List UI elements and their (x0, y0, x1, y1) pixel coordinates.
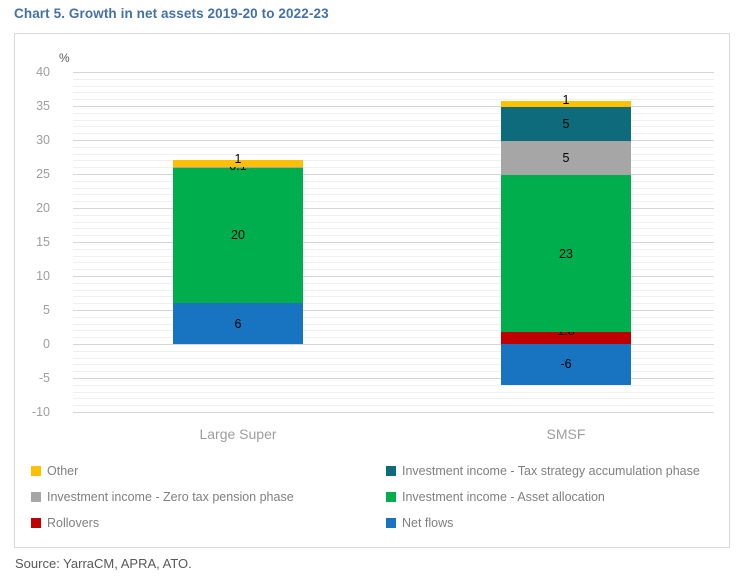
legend-item-rollovers[interactable]: Rollovers (31, 510, 294, 536)
chart-legend: Other Investment income - Zero tax pensi… (15, 458, 729, 548)
y-axis-tick-label: 5 (10, 303, 50, 317)
bar-segment[interactable] (173, 167, 303, 168)
bar-segment[interactable] (501, 101, 631, 108)
bar-large-super[interactable]: 6200.11 (173, 72, 303, 412)
legend-column-right: Investment income - Tax strategy accumul… (386, 458, 700, 536)
source-note: Source: YarraCM, APRA, ATO. (15, 556, 192, 571)
legend-item-zero-tax-pension-phase[interactable]: Investment income - Zero tax pension pha… (31, 484, 294, 510)
page-title: Chart 5. Growth in net assets 2019-20 to… (14, 6, 329, 21)
x-axis-category-large-super: Large Super (138, 426, 338, 442)
plot-wrapper: % -10-505101520253035406200.11-61.823551… (15, 34, 729, 458)
bar-segment[interactable] (501, 175, 631, 331)
bar-segment[interactable] (173, 167, 303, 303)
legend-label-tax-strategy-accumulation-phase: Investment income - Tax strategy accumul… (402, 464, 700, 478)
bar-segment[interactable] (501, 107, 631, 141)
legend-label-rollovers: Rollovers (47, 516, 99, 530)
y-axis-tick-label: 35 (10, 99, 50, 113)
chart-frame: % -10-505101520253035406200.11-61.823551… (14, 33, 730, 548)
y-axis-tick-label: 30 (10, 133, 50, 147)
legend-swatch-net-flows-icon (386, 518, 396, 528)
legend-swatch-rollovers-icon (31, 518, 41, 528)
bar-segment[interactable] (501, 141, 631, 175)
y-axis-tick-label: 40 (10, 65, 50, 79)
legend-label-asset-allocation: Investment income - Asset allocation (402, 490, 605, 504)
y-axis-tick-label: 25 (10, 167, 50, 181)
y-axis-tick-label: 15 (10, 235, 50, 249)
bar-segment[interactable] (173, 303, 303, 344)
legend-swatch-asset-allocation-icon (386, 492, 396, 502)
y-axis-tick-label: -10 (10, 405, 50, 419)
y-axis-tick-label: -5 (10, 371, 50, 385)
legend-swatch-other-icon (31, 466, 41, 476)
x-axis-category-smsf: SMSF (466, 426, 666, 442)
bar-segment[interactable] (173, 160, 303, 167)
legend-item-asset-allocation[interactable]: Investment income - Asset allocation (386, 484, 700, 510)
bar-smsf[interactable]: -61.823551 (501, 72, 631, 412)
legend-swatch-tax-strategy-accumulation-phase-icon (386, 466, 396, 476)
plot-area: -10-505101520253035406200.11-61.823551 (73, 72, 714, 412)
bar-segment[interactable] (501, 344, 631, 385)
legend-item-other[interactable]: Other (31, 458, 294, 484)
legend-item-tax-strategy-accumulation-phase[interactable]: Investment income - Tax strategy accumul… (386, 458, 700, 484)
legend-item-net-flows[interactable]: Net flows (386, 510, 700, 536)
legend-swatch-zero-tax-pension-phase-icon (31, 492, 41, 502)
y-axis-tick-label: 10 (10, 269, 50, 283)
chart-page: Chart 5. Growth in net assets 2019-20 to… (0, 0, 737, 578)
legend-column-left: Other Investment income - Zero tax pensi… (31, 458, 294, 536)
legend-label-net-flows: Net flows (402, 516, 453, 530)
y-axis-unit-label: % (59, 51, 70, 65)
y-axis-tick-label: 20 (10, 201, 50, 215)
legend-label-zero-tax-pension-phase: Investment income - Zero tax pension pha… (47, 490, 294, 504)
y-axis-tick-label: 0 (10, 337, 50, 351)
gridline-major (73, 412, 714, 413)
bar-segment[interactable] (501, 332, 631, 344)
legend-label-other: Other (47, 464, 78, 478)
